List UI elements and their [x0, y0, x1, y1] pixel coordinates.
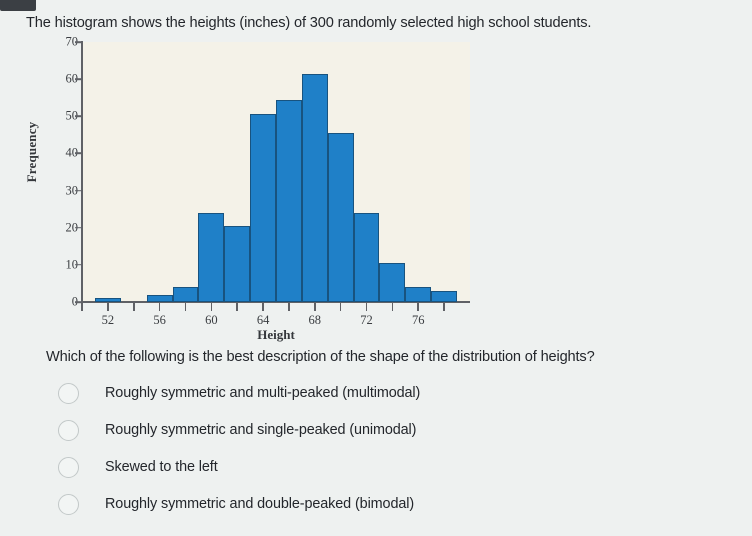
histogram-chart: Frequency 010203040506070 52566064687276…: [20, 36, 470, 348]
x-tick-label: 60: [191, 313, 231, 328]
x-tick-label: 76: [398, 313, 438, 328]
radio-button-3[interactable]: [58, 494, 79, 515]
x-tick-label: 68: [295, 313, 335, 328]
y-tick-mark: [75, 153, 82, 155]
x-tick-label: 72: [347, 313, 387, 328]
answer-options: Roughly symmetric and multi-peaked (mult…: [58, 375, 748, 523]
x-tick-mark: [185, 303, 187, 311]
x-tick-label: 52: [88, 313, 128, 328]
y-tick-label: 50: [40, 109, 78, 124]
option-row-1[interactable]: Roughly symmetric and single-peaked (uni…: [58, 412, 748, 448]
option-label-0: Roughly symmetric and multi-peaked (mult…: [105, 385, 420, 401]
x-tick-mark: [133, 303, 135, 311]
y-tick-label: 40: [40, 146, 78, 161]
x-tick-mark: [81, 303, 83, 311]
y-tick-mark: [75, 264, 82, 266]
y-axis-label: Frequency: [24, 92, 40, 212]
radio-button-2[interactable]: [58, 457, 79, 478]
x-tick-mark: [159, 303, 161, 311]
prompt-text: The histogram shows the heights (inches)…: [26, 14, 740, 32]
x-tick-mark: [417, 303, 419, 311]
y-tick-label: 30: [40, 183, 78, 198]
histogram-bar: [302, 74, 328, 302]
x-tick-mark: [211, 303, 213, 311]
option-label-1: Roughly symmetric and single-peaked (uni…: [105, 422, 416, 438]
histogram-bar: [354, 213, 380, 302]
histogram-bar: [198, 213, 224, 302]
radio-button-0[interactable]: [58, 383, 79, 404]
y-tick-mark: [75, 78, 82, 80]
option-row-0[interactable]: Roughly symmetric and multi-peaked (mult…: [58, 375, 748, 411]
histogram-bar: [147, 295, 173, 302]
histogram-bar: [173, 287, 199, 302]
toolbar-chip: [0, 0, 36, 11]
y-tick-mark: [75, 190, 82, 192]
option-label-2: Skewed to the left: [105, 459, 218, 475]
y-tick-mark: [75, 41, 82, 43]
x-tick-mark: [107, 303, 109, 311]
histogram-bar: [276, 100, 302, 302]
histogram-bar: [328, 133, 354, 302]
x-tick-label: 56: [140, 313, 180, 328]
x-axis-label: Height: [82, 327, 470, 343]
y-tick-label: 0: [40, 295, 78, 310]
x-tick-label: 64: [243, 313, 283, 328]
x-tick-mark: [288, 303, 290, 311]
x-tick-mark: [262, 303, 264, 311]
x-tick-mark: [366, 303, 368, 311]
question-text: Which of the following is the best descr…: [46, 349, 746, 365]
histogram-bar: [379, 263, 405, 302]
y-tick-mark: [75, 227, 82, 229]
histogram-bar: [95, 298, 121, 302]
histogram-bar: [431, 291, 457, 302]
x-tick-mark: [236, 303, 238, 311]
y-tick-label: 70: [40, 35, 78, 50]
x-tick-mark: [314, 303, 316, 311]
option-row-2[interactable]: Skewed to the left: [58, 449, 748, 485]
y-tick-label: 10: [40, 257, 78, 272]
histogram-bar: [405, 287, 431, 302]
x-tick-mark: [340, 303, 342, 311]
option-label-3: Roughly symmetric and double-peaked (bim…: [105, 496, 414, 512]
x-tick-mark: [392, 303, 394, 311]
x-tick-mark: [443, 303, 445, 311]
option-row-3[interactable]: Roughly symmetric and double-peaked (bim…: [58, 486, 748, 522]
histogram-bar: [250, 114, 276, 302]
y-tick-label: 60: [40, 72, 78, 87]
y-tick-mark: [75, 115, 82, 117]
radio-button-1[interactable]: [58, 420, 79, 441]
y-tick-label: 20: [40, 220, 78, 235]
histogram-bar: [224, 226, 250, 302]
